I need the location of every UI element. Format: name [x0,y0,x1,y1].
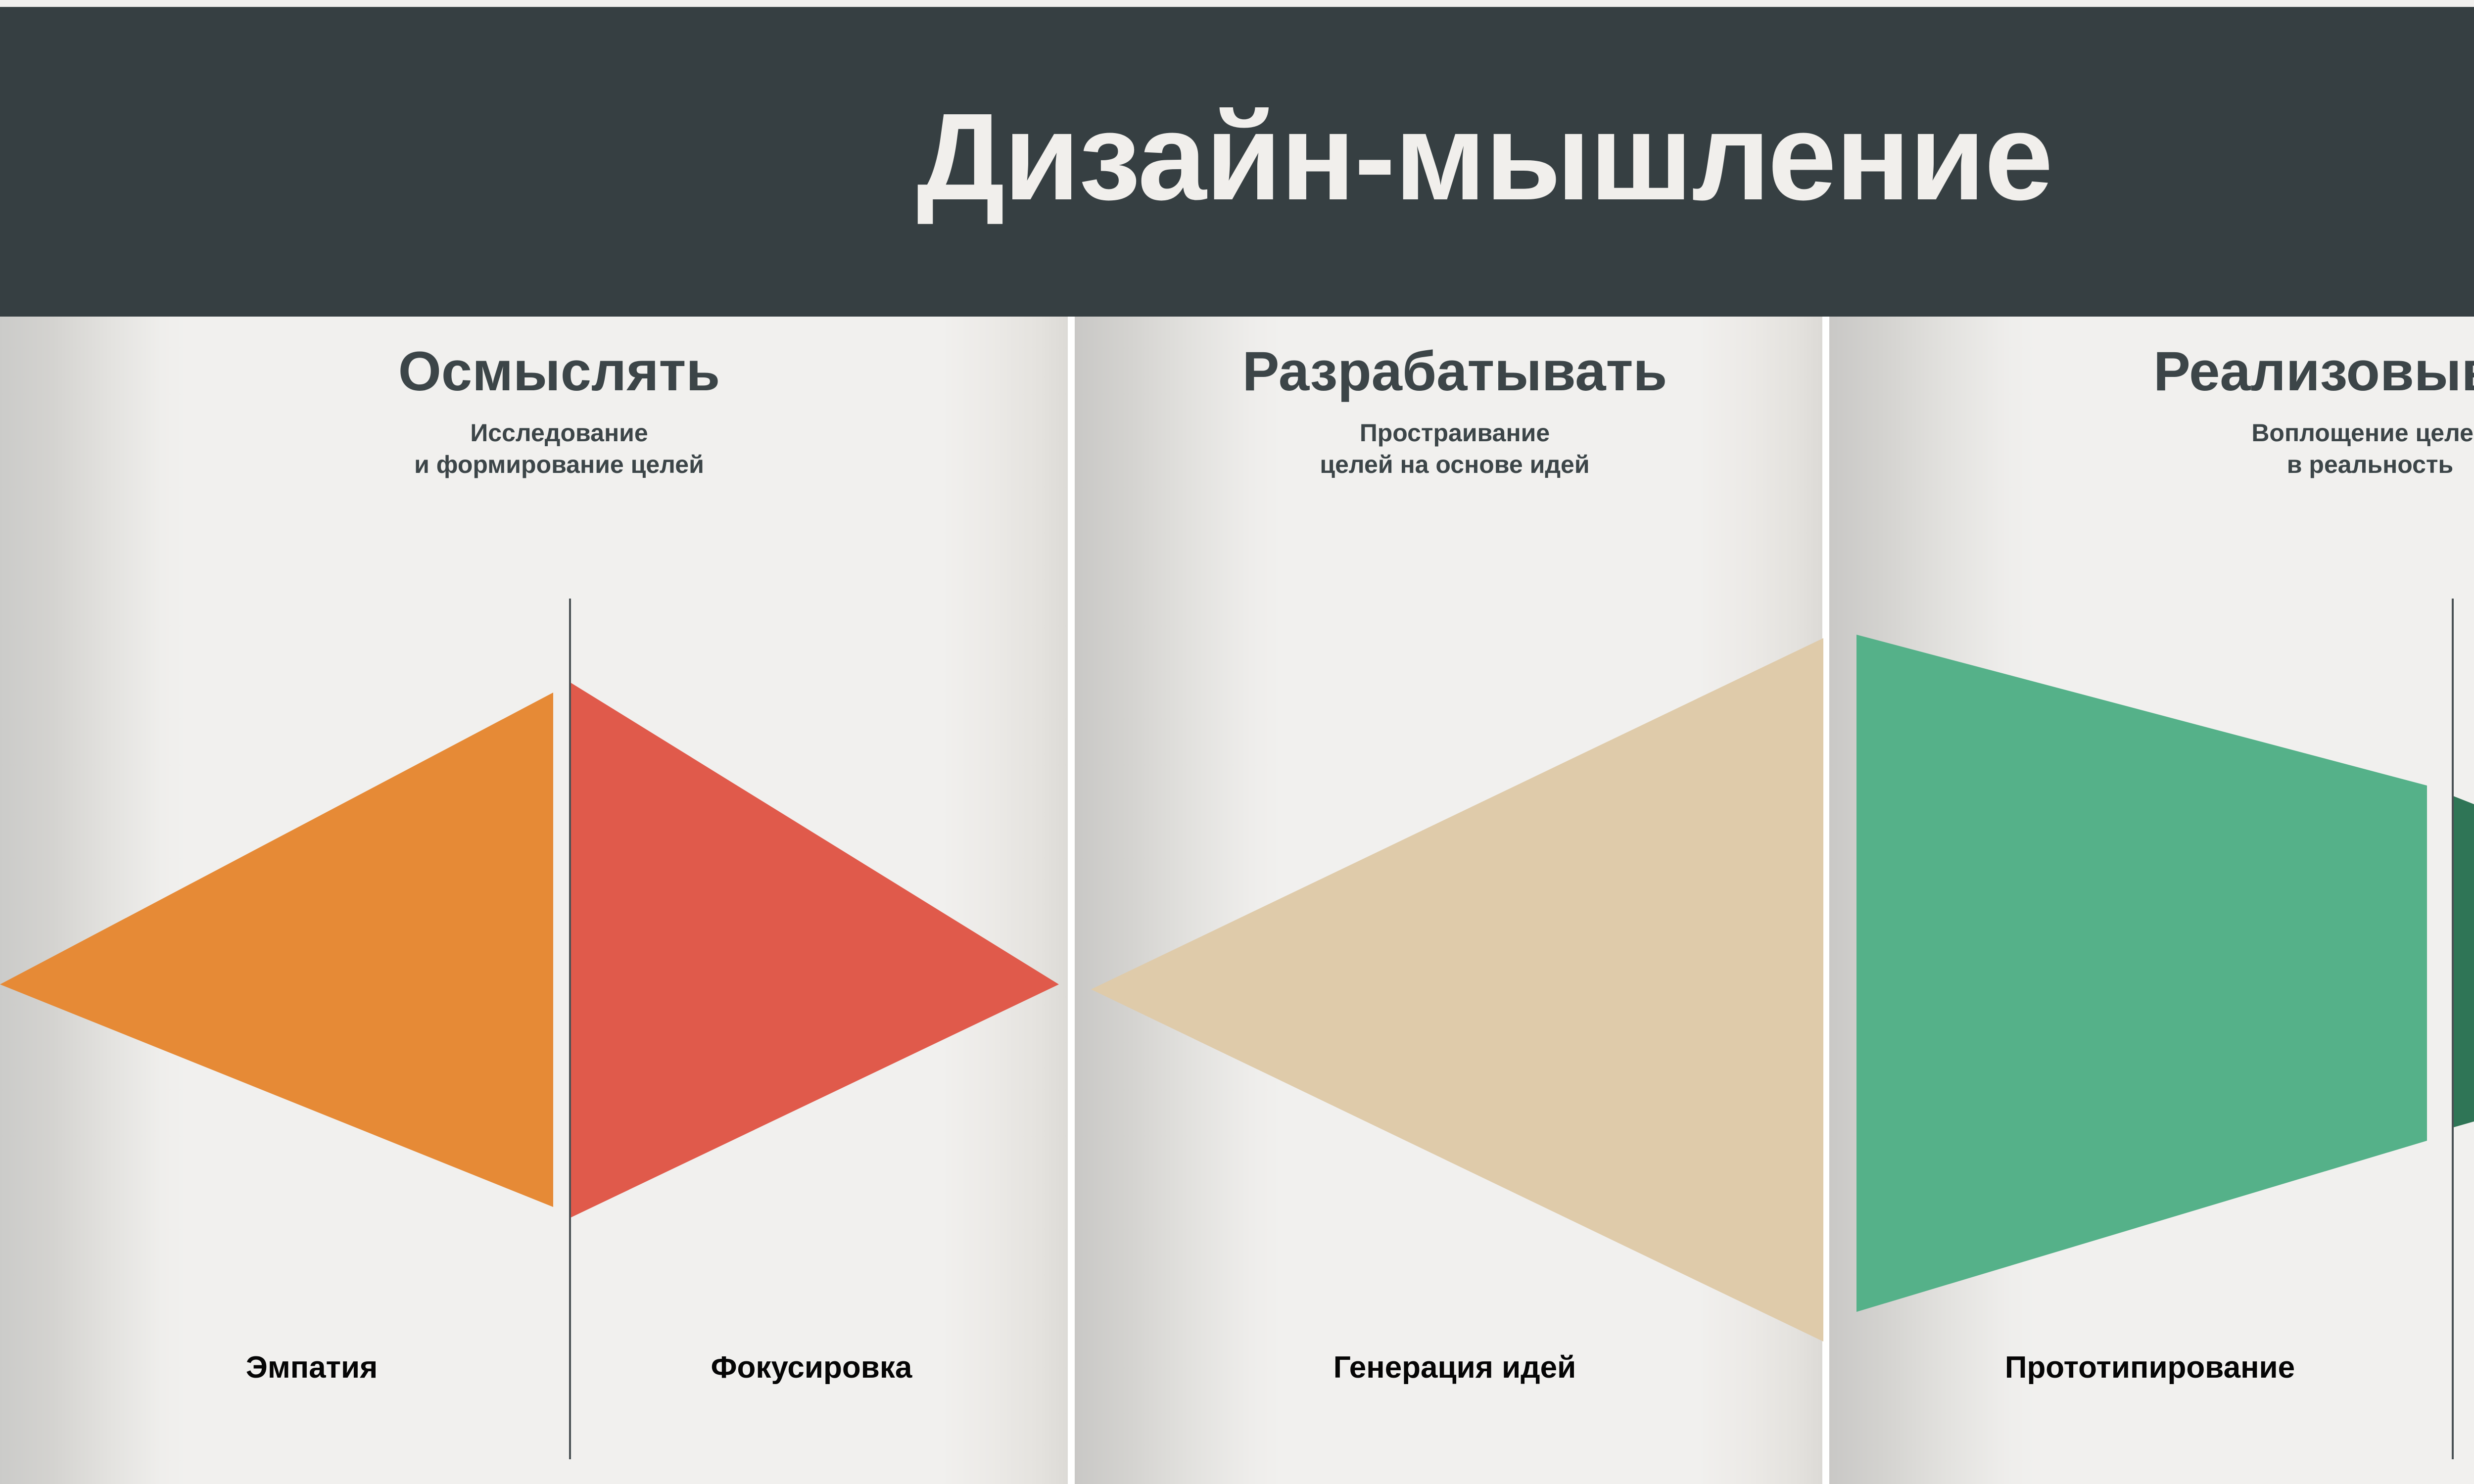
step-label-focus: Фокусировка [589,1352,1034,1383]
step-label-ideation: Генерация идей [1103,1352,1806,1383]
shape-ideation [1091,638,1823,1342]
column-subtitle-line2: в реальность [2287,451,2453,478]
shape-empathy [0,693,553,1207]
divider-prototyping-testing [2452,599,2454,1459]
column-subtitle-line1: Простраивание [1360,419,1550,447]
column-subtitle-line2: целей на основе идей [1320,451,1589,478]
diagram-stage: Осмыслять Исследование и формирование це… [0,317,2474,1484]
shape-testing [2452,795,2474,1128]
column-subtitle-line2: и формирование целей [414,451,704,478]
phase-shapes [0,317,2474,1484]
poster-header: Дизайн-мышление [0,7,2474,317]
column-subtitle-line1: Воплощение целей [2251,419,2474,447]
design-thinking-poster: Дизайн-мышление Осмы [0,0,2474,1484]
shape-focus [569,682,1059,1218]
column-heading-realizovyvat: Реализовывать Воплощение целей в реально… [1860,344,2474,480]
column-subtitle-realizovyvat: Воплощение целей в реальность [1860,417,2474,480]
column-title-razrabatyvat: Разрабатывать [1103,344,1806,399]
column-subtitle-line1: Исследование [470,419,648,447]
divider-empathy-focus [569,599,571,1459]
column-subtitle-osmyslyat: Исследование и формирование целей [89,417,1029,480]
step-label-testing: Тестирование [2467,1352,2474,1383]
poster-title: Дизайн-мышление [917,95,2052,219]
step-label-prototyping: Прототипирование [1855,1352,2444,1383]
step-label-empathy: Эмпатия [89,1352,534,1383]
column-heading-razrabatyvat: Разрабатывать Простраивание целей на осн… [1103,344,1806,480]
column-heading-osmyslyat: Осмыслять Исследование и формирование це… [89,344,1029,480]
header-top-band [0,0,2474,7]
column-title-realizovyvat: Реализовывать [1860,344,2474,399]
column-title-osmyslyat: Осмыслять [89,344,1029,399]
shape-prototyping [1856,635,2427,1312]
column-subtitle-razrabatyvat: Простраивание целей на основе идей [1103,417,1806,480]
